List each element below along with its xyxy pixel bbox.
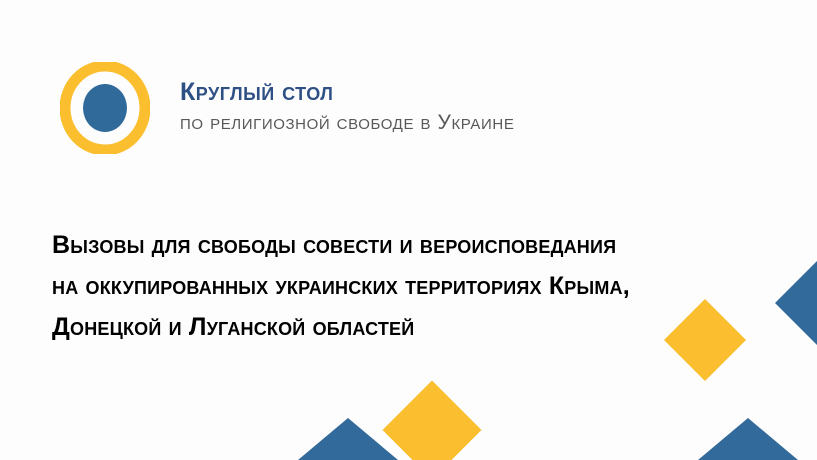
- page-title: Вызовы для свободы совести и вероисповед…: [52, 225, 782, 348]
- triangle-up-bottom-center-icon: [298, 418, 398, 460]
- slide-header: Круглый стол по религиозной свободе в Ук…: [60, 62, 514, 154]
- heading-line-1: Вызовы для свободы совести и вероисповед…: [52, 225, 782, 266]
- presentation-slide: Круглый стол по религиозной свободе в Ук…: [0, 0, 817, 460]
- event-title: Круглый стол: [180, 78, 514, 106]
- heading-line-2: на оккупированных украинских территориях…: [52, 266, 782, 307]
- triangle-up-bottom-right-icon: [698, 418, 798, 460]
- heading-line-3: Донецкой и Луганской областей: [52, 307, 782, 348]
- header-text-block: Круглый стол по религиозной свободе в Ук…: [180, 78, 514, 137]
- event-subtitle: по религиозной свободе в Украине: [180, 110, 514, 135]
- diamond-yellow-bottom-center-icon: [383, 381, 482, 460]
- round-table-logo-icon: [60, 62, 150, 154]
